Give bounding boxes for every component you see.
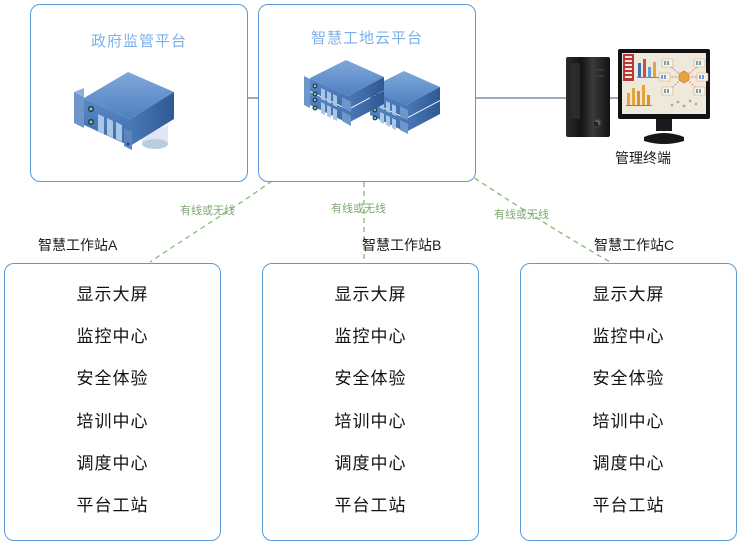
list-item[interactable]: 平台工站 [77,497,149,516]
workstation-b-caption: 智慧工作站B [362,235,441,255]
link-label-ws-c: 有线或无线 [494,206,549,222]
list-item[interactable]: 安全体验 [335,370,407,389]
list-item[interactable]: 调度中心 [77,455,149,474]
list-item[interactable]: 培训中心 [593,413,665,432]
list-item[interactable]: 显示大屏 [335,286,407,305]
list-item[interactable]: 监控中心 [77,328,149,347]
link-label-ws-a: 有线或无线 [180,202,235,218]
workstation-c-list: 显示大屏 监控中心 安全体验 培训中心 调度中心 平台工站 [521,264,736,540]
desktop-computer-icon [560,45,712,150]
workstation-b-panel[interactable]: 显示大屏 监控中心 安全体验 培训中心 调度中心 平台工站 [262,263,479,541]
panel-gov-platform-title: 政府监管平台 [30,30,248,51]
list-item[interactable]: 监控中心 [335,328,407,347]
workstation-b-list: 显示大屏 监控中心 安全体验 培训中心 调度中心 平台工站 [263,264,478,540]
list-item[interactable]: 安全体验 [593,370,665,389]
list-item[interactable]: 培训中心 [335,413,407,432]
terminal-caption: 管理终端 [615,148,671,168]
list-item[interactable]: 调度中心 [335,455,407,474]
list-item[interactable]: 调度中心 [593,455,665,474]
link-label-ws-b: 有线或无线 [331,200,386,216]
workstation-c-panel[interactable]: 显示大屏 监控中心 安全体验 培训中心 调度中心 平台工站 [520,263,737,541]
server-icon [62,62,180,154]
workstation-c-caption: 智慧工作站C [594,235,674,255]
list-item[interactable]: 平台工站 [593,497,665,516]
panel-cloud-platform-title: 智慧工地云平台 [258,27,476,48]
list-item[interactable]: 监控中心 [593,328,665,347]
server-rack-icon [304,58,444,136]
list-item[interactable]: 安全体验 [77,370,149,389]
list-item[interactable]: 显示大屏 [593,286,665,305]
list-item[interactable]: 显示大屏 [77,286,149,305]
workstation-a-panel[interactable]: 显示大屏 监控中心 安全体验 培训中心 调度中心 平台工站 [4,263,221,541]
workstation-a-list: 显示大屏 监控中心 安全体验 培训中心 调度中心 平台工站 [5,264,220,540]
list-item[interactable]: 平台工站 [335,497,407,516]
workstation-a-caption: 智慧工作站A [38,235,117,255]
diagram-canvas: 政府监管平台 智慧工地云平台 [0,0,742,545]
list-item[interactable]: 培训中心 [77,413,149,432]
